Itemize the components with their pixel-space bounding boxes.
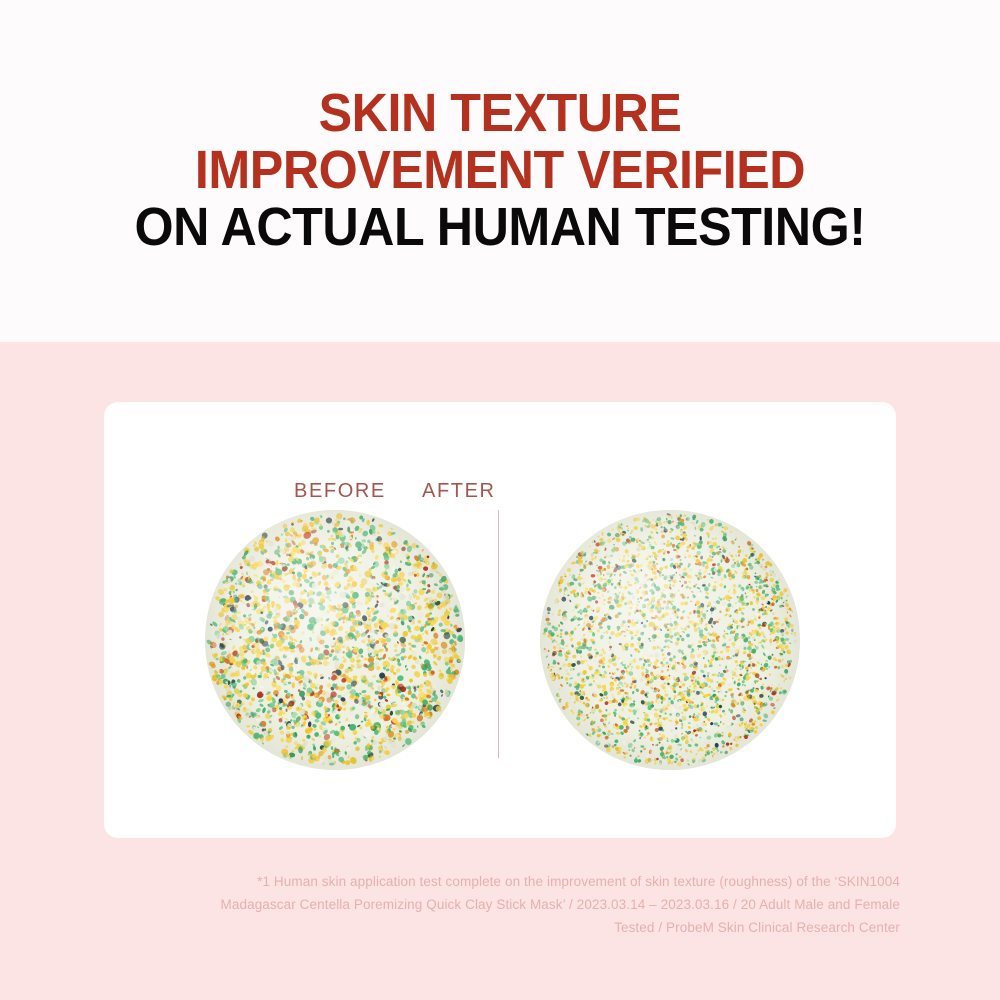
promo-page: SKIN TEXTURE IMPROVEMENT VERIFIED ON ACT…: [0, 0, 1000, 1000]
before-image: [205, 510, 465, 770]
headline-line-3: ON ACTUAL HUMAN TESTING!: [35, 200, 965, 254]
footnote: *1 Human skin application test complete …: [100, 870, 900, 939]
before-sphere-texture: [205, 510, 465, 770]
footnote-line-1: *1 Human skin application test complete …: [100, 870, 900, 893]
headline-line-2: IMPROVEMENT VERIFIED: [35, 143, 965, 197]
footnote-line-3: Tested / ProbeM Skin Clinical Research C…: [100, 916, 900, 939]
after-image: [540, 510, 800, 770]
before-after-card: BEFORE AFTER: [104, 402, 896, 838]
footnote-line-2: Madagascar Centella Poremizing Quick Cla…: [100, 893, 900, 916]
vertical-divider: [498, 510, 499, 758]
after-sphere-texture: [540, 510, 800, 770]
header-band: SKIN TEXTURE IMPROVEMENT VERIFIED ON ACT…: [0, 0, 1000, 342]
before-label: BEFORE: [294, 480, 386, 503]
after-label: AFTER: [422, 480, 496, 503]
headline-line-1: SKIN TEXTURE: [35, 86, 965, 140]
